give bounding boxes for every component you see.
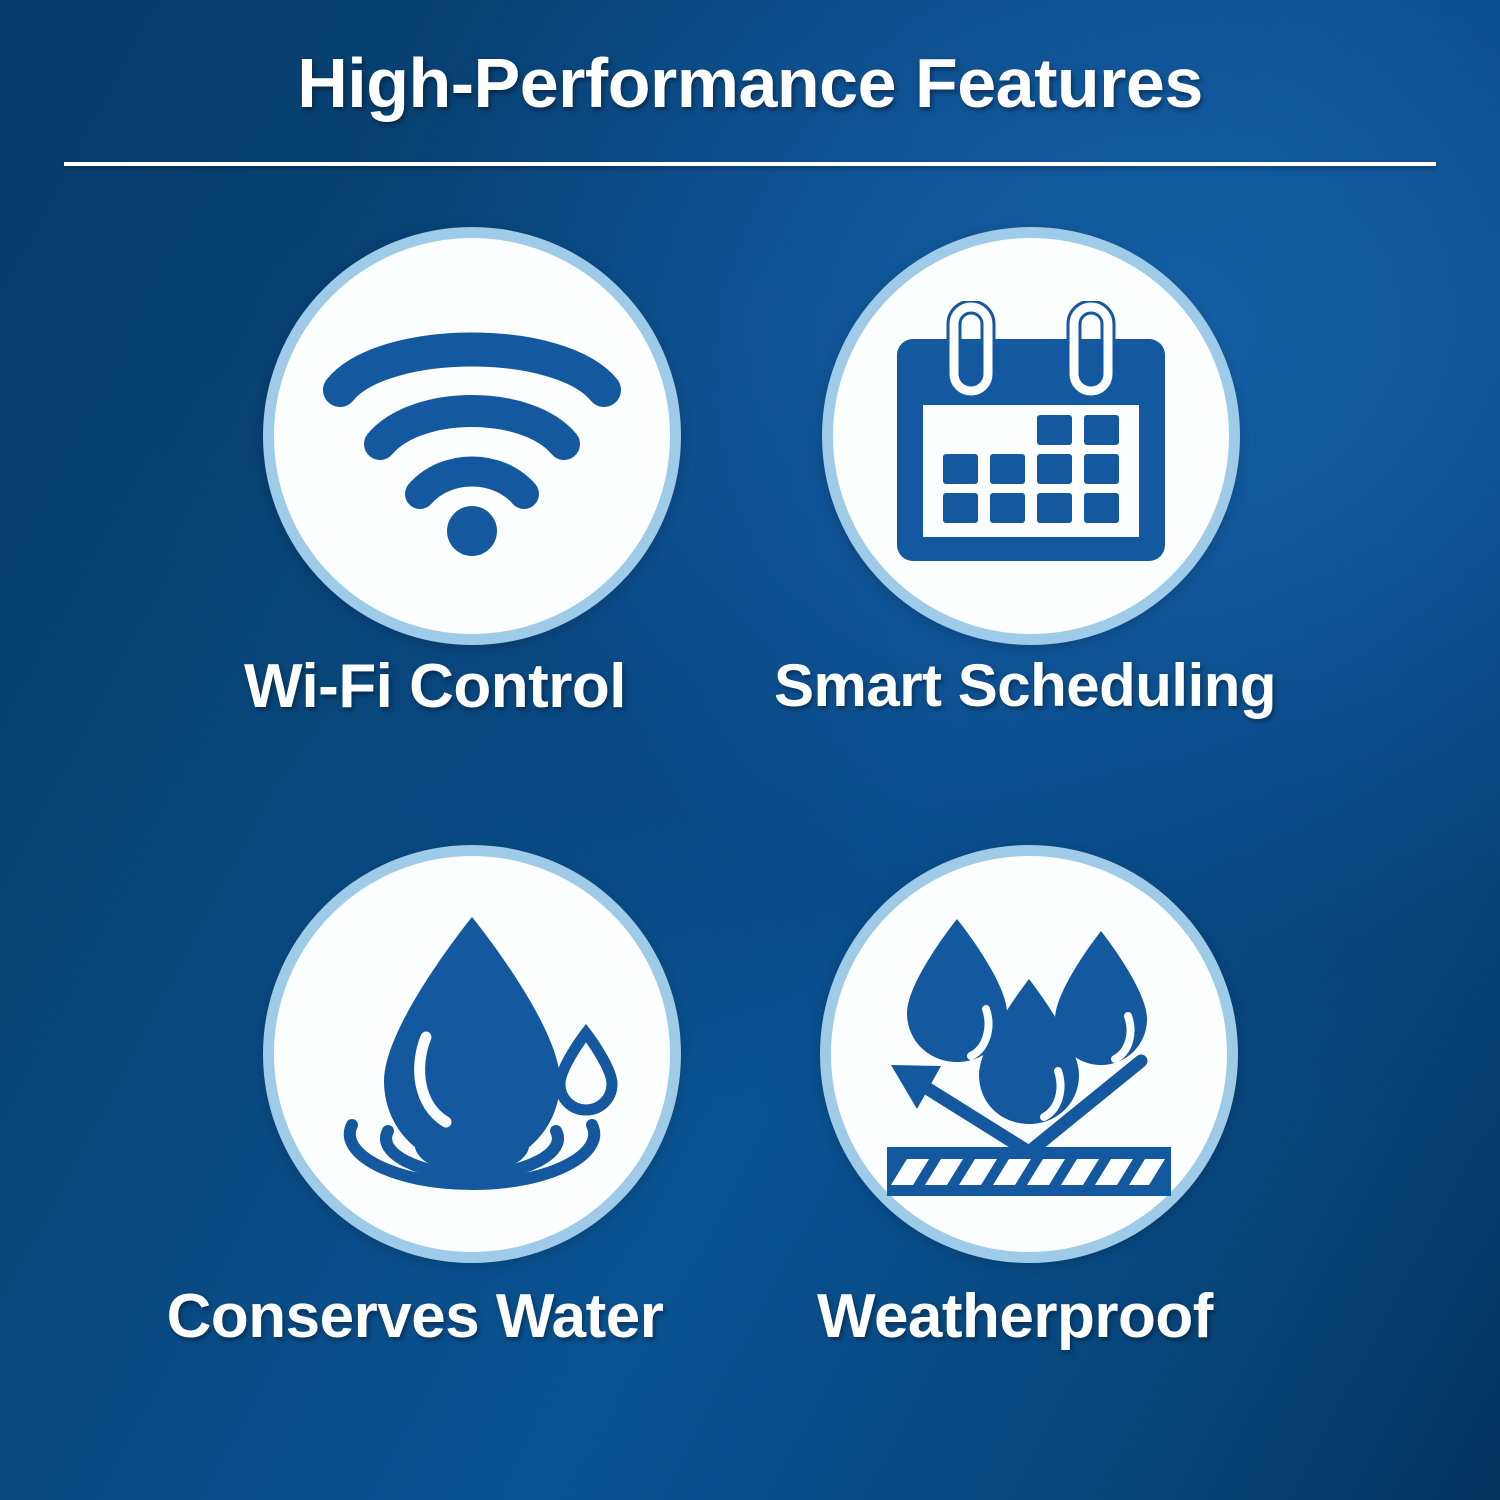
water-repellent-surface-icon [879,909,1179,1199]
wifi-icon [322,316,622,556]
feature-icon-badge [263,845,681,1263]
feature-label: Wi-Fi Control [110,651,760,722]
water-drop-ripple-icon [322,909,622,1199]
feature-label: Conserves Water [90,1281,740,1352]
page-title: High-Performance Features [0,48,1500,118]
header-divider [64,162,1436,166]
feature-icon-badge [822,227,1240,645]
feature-item-conserves-water: Conserves Water [90,833,740,1393]
feature-grid: Wi-Fi Control [0,215,1500,1455]
feature-icon-badge [820,845,1238,1263]
feature-poster: High-Performance Features Wi-Fi C [0,0,1500,1500]
feature-label: Weatherproof [690,1281,1340,1352]
poster-header: High-Performance Features [0,0,1500,200]
feature-item-smart-scheduling: Smart Scheduling [700,215,1350,775]
feature-label: Smart Scheduling [700,651,1350,720]
feature-item-weatherproof: Weatherproof [690,833,1340,1393]
calendar-icon [891,301,1171,571]
feature-icon-badge [263,227,681,645]
feature-item-wifi-control: Wi-Fi Control [110,215,760,775]
